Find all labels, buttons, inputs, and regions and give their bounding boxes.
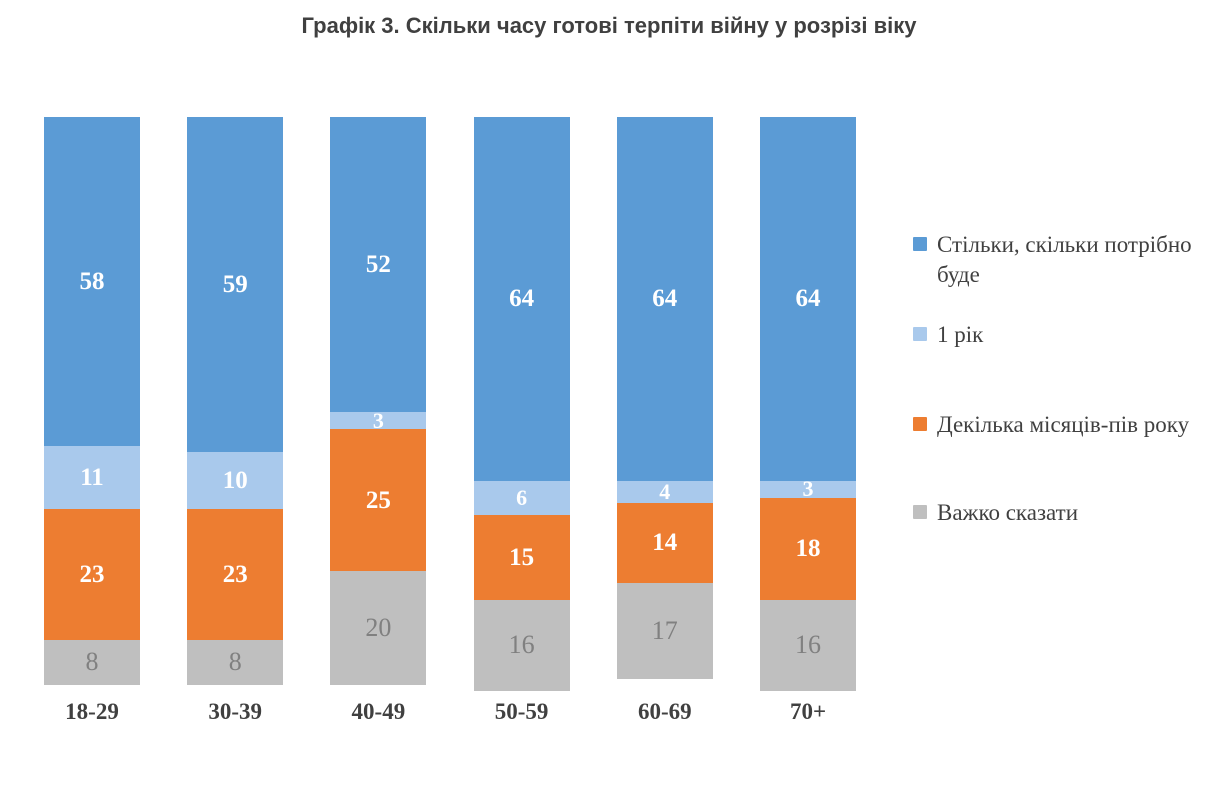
bar-segment[interactable]: 18	[760, 498, 856, 600]
bar-segment-value-label: 16	[795, 632, 821, 658]
bar-segment[interactable]: 59	[187, 117, 283, 452]
bar-segment[interactable]: 64	[617, 117, 713, 481]
bar-segment[interactable]: 52	[330, 117, 426, 412]
bar-segment[interactable]: 11	[44, 446, 140, 508]
legend-item[interactable]: Декілька місяців-пів року	[913, 410, 1208, 440]
chart-title: Графік 3. Скільки часу готові терпіти ві…	[0, 12, 1218, 40]
bar-segment[interactable]: 6	[474, 481, 570, 515]
bar-segment[interactable]: 58	[44, 117, 140, 446]
bar-segment[interactable]: 64	[760, 117, 856, 481]
legend-swatch-icon	[913, 505, 927, 519]
bar-segment-value-label: 17	[652, 618, 678, 644]
bar-segment[interactable]: 8	[187, 640, 283, 685]
bar-column[interactable]: 5910238	[187, 117, 283, 685]
category-axis-label: 60-69	[617, 697, 713, 727]
bar-column[interactable]: 5811238	[44, 117, 140, 685]
plot-area: 5811238591023852325206461516644141764318…	[0, 117, 900, 685]
bar-segment-value-label: 6	[516, 487, 527, 509]
legend-item-label: 1 рік	[937, 320, 983, 350]
bar-segment-value-label: 11	[80, 465, 104, 490]
category-axis-label: 30-39	[187, 697, 283, 727]
bar-segment-value-label: 25	[366, 488, 391, 513]
bar-segment-value-label: 10	[223, 468, 248, 493]
legend-swatch-icon	[913, 327, 927, 341]
bar-segment-value-label: 3	[373, 412, 384, 429]
bar-segment[interactable]: 4	[617, 481, 713, 504]
legend-item-label: Стільки, скільки потрібно буде	[937, 230, 1202, 290]
bar-segment[interactable]: 23	[44, 509, 140, 640]
bar-segment[interactable]: 17	[617, 583, 713, 680]
bar-segment[interactable]: 15	[474, 515, 570, 600]
bar-segment[interactable]: 3	[330, 412, 426, 429]
bar-segment-value-label: 4	[659, 481, 670, 503]
category-axis-label: 70+	[760, 697, 856, 727]
bar-segment-value-label: 64	[509, 286, 534, 311]
category-axis: 18-2930-3940-4950-5960-6970+	[0, 697, 900, 737]
bar-segment-value-label: 8	[86, 649, 99, 675]
bar-segment-value-label: 59	[223, 272, 248, 297]
legend-swatch-icon	[913, 237, 927, 251]
bar-segment[interactable]: 64	[474, 117, 570, 481]
bar-segment[interactable]: 16	[474, 600, 570, 691]
bar-segment-value-label: 16	[509, 632, 535, 658]
category-axis-label: 40-49	[330, 697, 426, 727]
legend-item[interactable]: Важко сказати	[913, 498, 1208, 528]
legend-swatch-icon	[913, 417, 927, 431]
chart-container: Графік 3. Скільки часу готові терпіти ві…	[0, 0, 1218, 810]
category-axis-label: 18-29	[44, 697, 140, 727]
bar-segment[interactable]: 23	[187, 509, 283, 640]
bar-segment-value-label: 23	[80, 562, 105, 587]
bar-segment-value-label: 20	[365, 615, 391, 641]
bar-segment-value-label: 14	[652, 530, 677, 555]
bar-segment[interactable]: 20	[330, 571, 426, 685]
bar-segment-value-label: 3	[803, 481, 814, 498]
bar-segment[interactable]: 14	[617, 503, 713, 583]
legend-item-label: Важко сказати	[937, 498, 1078, 528]
bar-column[interactable]: 6461516	[474, 117, 570, 685]
bar-segment-value-label: 15	[509, 545, 534, 570]
bar-column[interactable]: 6431816	[760, 117, 856, 685]
bar-segment[interactable]: 16	[760, 600, 856, 691]
category-axis-label: 50-59	[474, 697, 570, 727]
bar-segment-value-label: 8	[229, 649, 242, 675]
bar-column[interactable]: 6441417	[617, 117, 713, 685]
legend-item[interactable]: Стільки, скільки потрібно буде	[913, 230, 1208, 290]
bar-segment-value-label: 52	[366, 252, 391, 277]
bar-segment[interactable]: 8	[44, 640, 140, 685]
bar-segment-value-label: 23	[223, 562, 248, 587]
bar-column[interactable]: 5232520	[330, 117, 426, 685]
legend-item[interactable]: 1 рік	[913, 320, 1208, 350]
bar-segment[interactable]: 25	[330, 429, 426, 571]
bar-segment-value-label: 64	[796, 286, 821, 311]
legend-item-label: Декілька місяців-пів року	[937, 410, 1189, 440]
bar-segment-value-label: 64	[652, 286, 677, 311]
bar-segment[interactable]: 10	[187, 452, 283, 509]
bar-segment[interactable]: 3	[760, 481, 856, 498]
bar-segment-value-label: 18	[796, 536, 821, 561]
bar-segment-value-label: 58	[80, 269, 105, 294]
